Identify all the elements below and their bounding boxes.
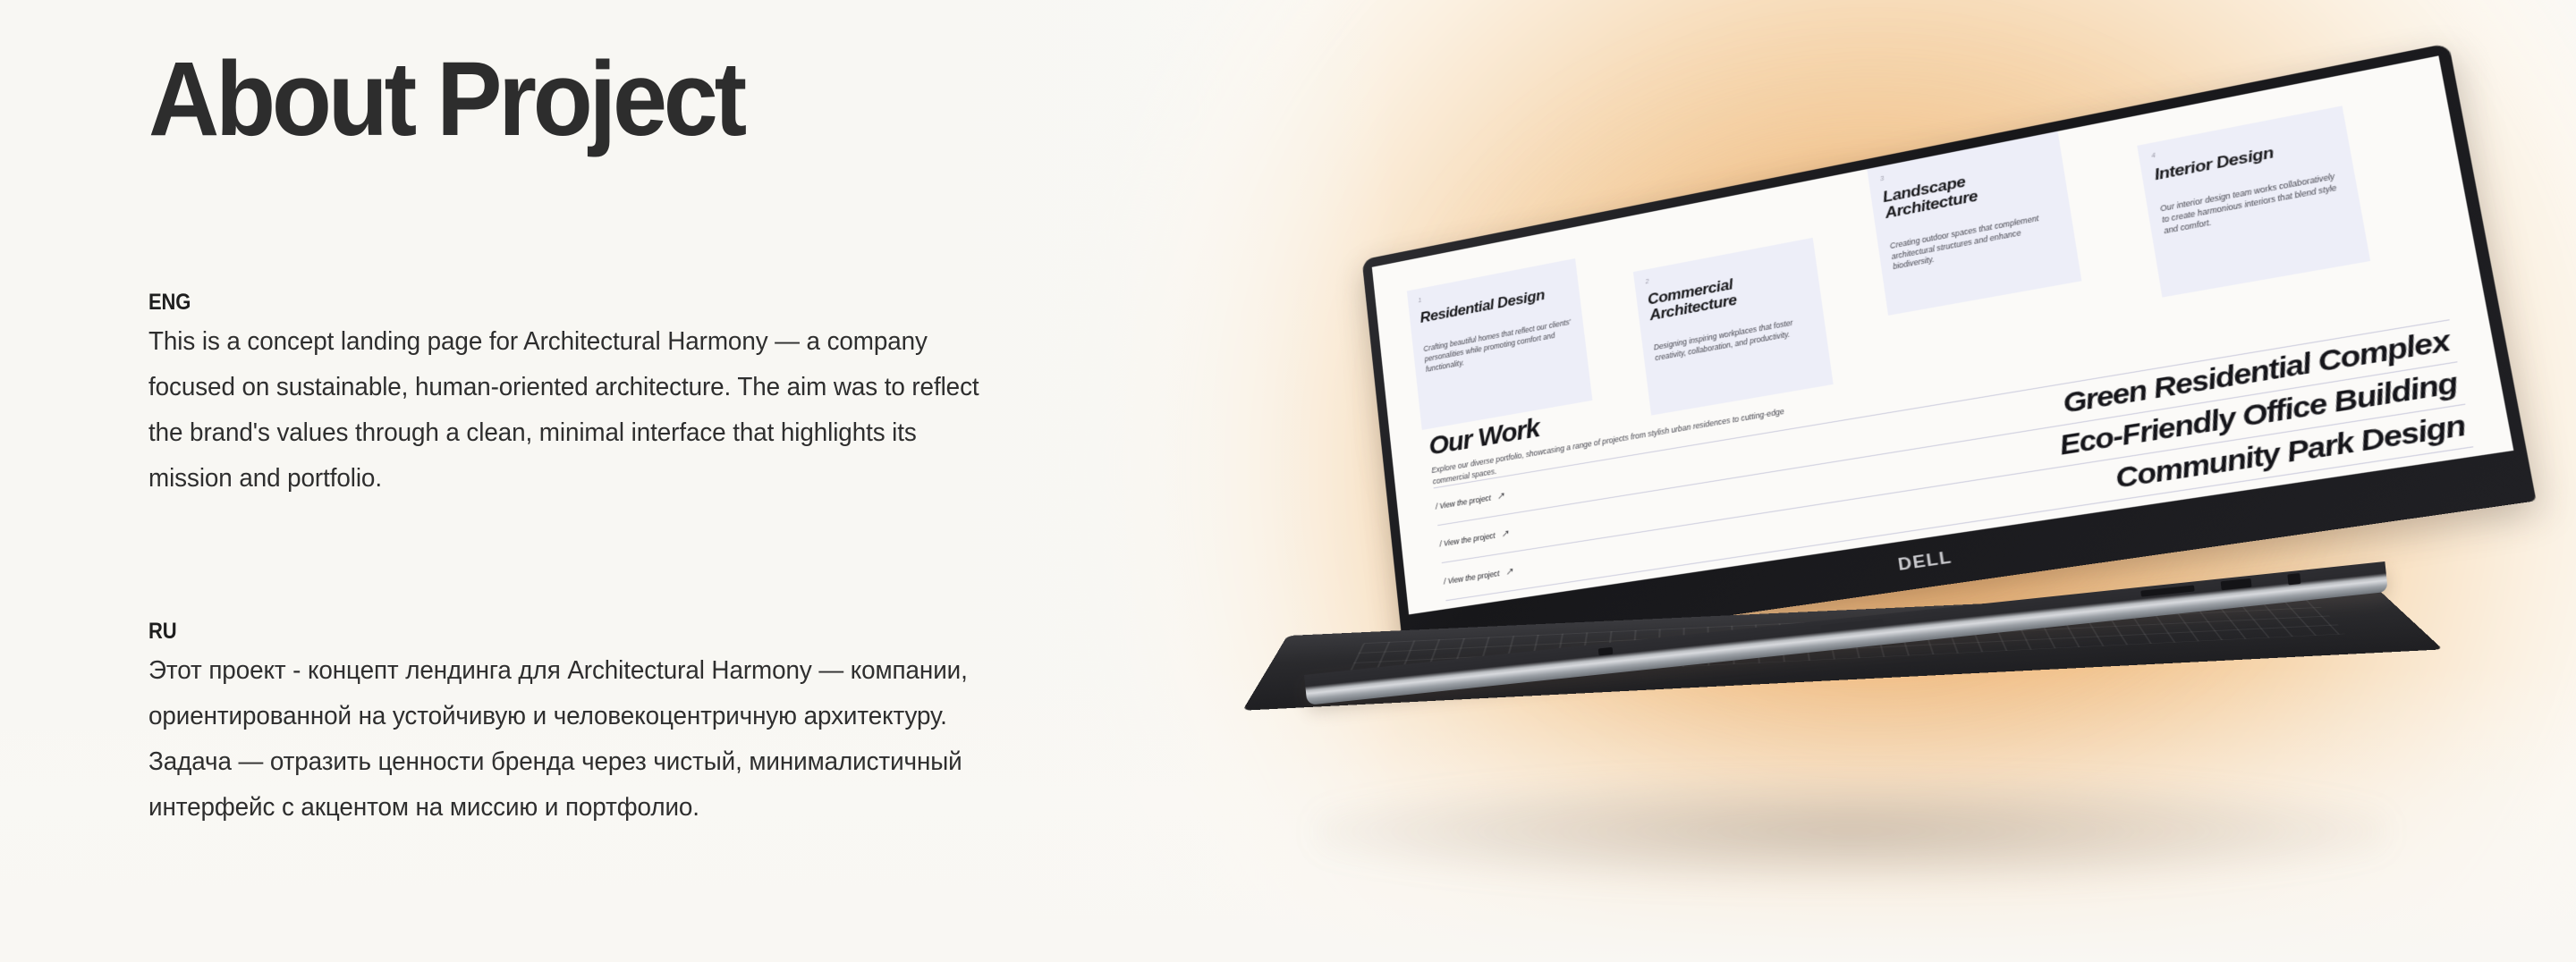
service-card-description: Crafting beautiful homes that reflect ou… bbox=[1423, 317, 1575, 376]
arrow-up-right-icon: ↗ bbox=[1505, 566, 1513, 577]
laptop-shadow bbox=[1315, 778, 2388, 885]
page-title: About Project bbox=[148, 46, 1046, 152]
lang-label-ru: RU bbox=[148, 619, 936, 645]
latch-notch bbox=[1598, 647, 1614, 656]
service-card-interior-design[interactable]: 4 Interior Design Our interior design te… bbox=[2137, 105, 2370, 297]
lang-body-eng: This is a concept landing page for Archi… bbox=[148, 319, 1007, 502]
service-card-description: Our interior design team works collabora… bbox=[2159, 170, 2346, 237]
view-project-label: / View the project bbox=[1439, 531, 1496, 549]
lang-body-ru: Этот проект - концепт лендинга для Archi… bbox=[148, 648, 1007, 831]
lock-slot bbox=[2287, 573, 2301, 585]
hinge-vent bbox=[1820, 619, 1883, 630]
service-card-title: Landscape Architecture bbox=[1882, 157, 2055, 222]
view-project-label: / View the project bbox=[1435, 494, 1491, 511]
service-card-residential-design[interactable]: 1 Residential Design Crafting beautiful … bbox=[1407, 258, 1593, 430]
about-project-page: About Project ENG This is a concept land… bbox=[0, 0, 2576, 962]
view-project-link[interactable]: / View the project ↗ bbox=[1439, 528, 1509, 549]
dell-logo: DELL bbox=[1897, 547, 1953, 576]
service-card-description: Creating outdoor spaces that complement … bbox=[1889, 209, 2063, 273]
usb-port bbox=[2221, 578, 2252, 590]
lang-block-eng: ENG This is a concept landing page for A… bbox=[148, 290, 1043, 502]
laptop-mockup: 1 Residential Design Crafting beautiful … bbox=[1288, 241, 2415, 903]
sd-card-slot bbox=[2140, 585, 2194, 596]
service-card-title: Commercial Architecture bbox=[1647, 263, 1809, 324]
text-column: About Project ENG This is a concept land… bbox=[148, 46, 1114, 152]
view-project-label: / View the project bbox=[1444, 569, 1500, 586]
arrow-up-right-icon: ↗ bbox=[1496, 491, 1504, 502]
arrow-up-right-icon: ↗ bbox=[1501, 528, 1509, 539]
lang-label-eng: ENG bbox=[148, 290, 936, 316]
lang-block-ru: RU Этот проект - концепт лендинга для Ar… bbox=[148, 619, 1043, 831]
view-project-link[interactable]: / View the project ↗ bbox=[1444, 566, 1514, 586]
view-project-link[interactable]: / View the project ↗ bbox=[1435, 491, 1504, 511]
service-card-description: Designing inspiring workplaces that fost… bbox=[1653, 314, 1815, 363]
